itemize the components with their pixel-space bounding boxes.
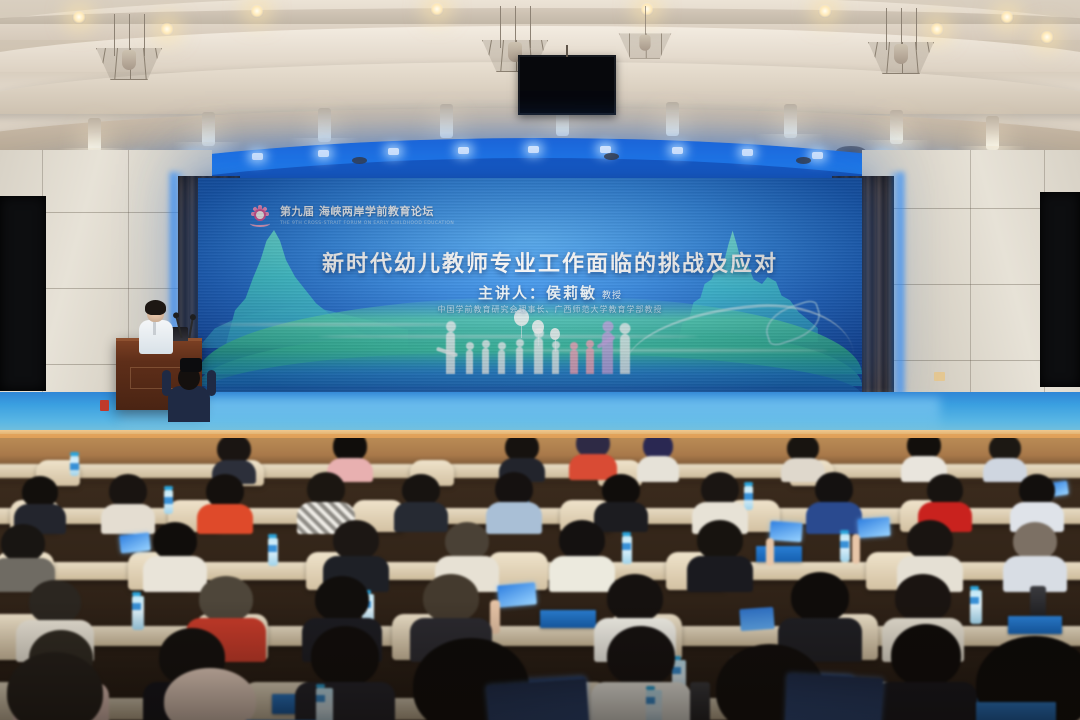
presenter-lanyard (153, 322, 156, 335)
pendant-cage (619, 33, 672, 59)
water-bottle (622, 536, 632, 564)
wall-sign (934, 372, 945, 381)
presenter-speaker (136, 303, 176, 351)
forum-logo-subtitle: THE 9TH CROSS-STRAIT FORUM ON EARLY CHIL… (280, 221, 454, 226)
red-cup (100, 400, 109, 411)
display-stand (566, 45, 568, 57)
downlight-fixture (666, 102, 679, 136)
name-placard (1008, 616, 1062, 634)
emblem-core (256, 211, 264, 219)
downlight-fixture (986, 116, 999, 150)
audience-member-foreground (150, 668, 270, 720)
operator-arm (207, 370, 216, 396)
led-stage-screen: 第九届 海峡两岸学前教育论坛 THE 9TH CROSS-STRAIT FORU… (198, 178, 862, 396)
wall-mounted-display (518, 55, 616, 115)
speaker-label: 主讲人： (478, 284, 546, 302)
raised-arm (766, 538, 774, 566)
slide-title: 新时代幼儿教师专业工作面临的挑战及应对 (198, 246, 862, 278)
downlight-fixture (890, 110, 903, 144)
audience-member-foreground (0, 652, 120, 720)
ceiling-spot-light (160, 22, 174, 36)
downlight-fixture (318, 108, 331, 142)
auditorium-photo: 第九届 海峡两岸学前教育论坛 THE 9TH CROSS-STRAIT FORU… (0, 0, 1080, 720)
smartphone (857, 517, 890, 538)
child-silhouette (498, 350, 505, 374)
child-silhouette-pink (570, 350, 578, 374)
ceiling-spot-light (1040, 30, 1054, 44)
pendant-bulb (894, 44, 908, 64)
adult-silhouette (620, 334, 630, 374)
speaker-name: 侯莉敏 (546, 284, 597, 302)
wall-speaker-panel (0, 196, 46, 391)
speaker-rank: 教授 (602, 291, 622, 301)
laptop (486, 679, 590, 720)
ceiling-spot-light (818, 4, 832, 18)
slide-speaker-line: 主讲人：侯莉敏教授 (198, 282, 862, 303)
audience-member (808, 472, 860, 532)
audience-member (104, 474, 152, 532)
flower-emblem-icon (248, 202, 272, 226)
pendant-light-fixture (96, 48, 162, 80)
water-bottle (70, 456, 79, 476)
water-bottle (268, 538, 278, 566)
child-silhouette (482, 348, 489, 374)
wave-line (218, 323, 458, 326)
screen-surface: 第九届 海峡两岸学前教育论坛 THE 9TH CROSS-STRAIT FORU… (198, 178, 862, 396)
water-bottle (164, 490, 173, 514)
audience-area (0, 438, 1080, 720)
ceiling-spot-light (1000, 10, 1014, 24)
ceiling-spot-light (430, 2, 444, 16)
pendant-bulb (122, 50, 136, 70)
audience-member (690, 520, 750, 590)
name-placard (976, 702, 1056, 720)
audience-member (880, 624, 972, 720)
wall-speaker-panel (1040, 192, 1080, 387)
smartphone (497, 582, 537, 607)
ceiling-spot-light (640, 2, 654, 16)
pendant-light-fixture (619, 33, 672, 59)
downlight-fixture (88, 118, 101, 152)
audience-member (1006, 522, 1064, 590)
balloon-string (521, 324, 522, 338)
forum-logo: 第九届 海峡两岸学前教育论坛 THE 9TH CROSS-STRAIT FORU… (248, 202, 454, 226)
smartphone (769, 521, 802, 542)
operator-body (168, 386, 210, 422)
presenter-body (139, 320, 173, 354)
camera-operator (160, 358, 218, 420)
water-bottle (316, 688, 333, 720)
raised-arm (852, 534, 860, 564)
audience-blur-layer (0, 438, 1080, 720)
balloon-string (538, 332, 539, 346)
operator-arm (162, 370, 171, 396)
thermos-flask (690, 682, 710, 720)
downlight-fixture (784, 104, 797, 138)
pendant-cage (96, 48, 162, 80)
child-silhouette (516, 347, 523, 374)
camera-device (180, 358, 202, 372)
stage-floor-reflection (120, 398, 940, 432)
emblem-swoosh (250, 220, 270, 227)
water-bottle (646, 690, 662, 720)
child-silhouette-pink (586, 348, 594, 374)
water-bottle (132, 596, 144, 630)
ceiling-spot-light (250, 4, 264, 18)
water-bottle (970, 590, 982, 624)
child-silhouette (552, 349, 559, 374)
pendant-bulb (639, 35, 650, 51)
balloon-string (555, 338, 556, 352)
curtain-edge-glow (888, 172, 904, 428)
child-silhouette (466, 350, 473, 374)
name-placard (540, 610, 596, 628)
water-bottle (840, 534, 850, 562)
wave-line (318, 335, 698, 338)
laptop (785, 674, 884, 720)
tablet-device (739, 607, 774, 631)
slide-affiliation: 中国学前教育研究会理事长、广西师范大学教育学部教授 (198, 304, 862, 315)
downlight-fixture (202, 112, 215, 146)
ceiling-spot-light (930, 22, 944, 36)
audience-member (596, 626, 686, 720)
forum-logo-title: 第九届 海峡两岸学前教育论坛 (280, 203, 454, 219)
presenter-hair (145, 300, 166, 315)
ceiling-spot-light (72, 10, 86, 24)
downlight-fixture (440, 104, 453, 138)
pendant-light-fixture (868, 42, 934, 74)
audience-member (200, 474, 250, 532)
pendant-cage (868, 42, 934, 74)
name-placard (756, 546, 802, 562)
